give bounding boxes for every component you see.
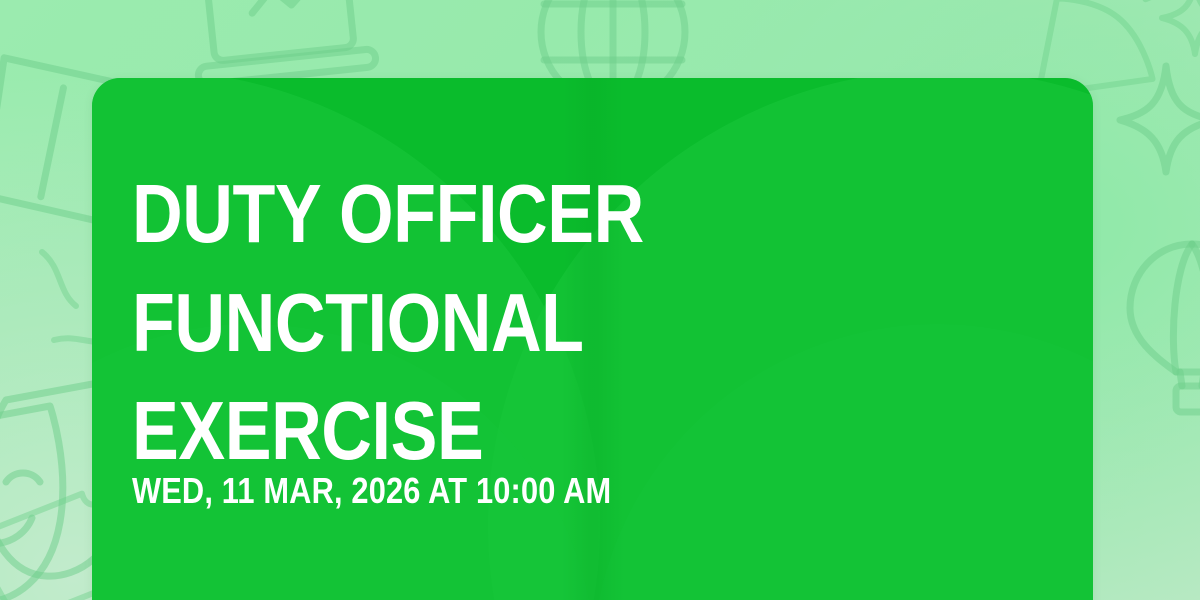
- event-card[interactable]: Duty Officer Functional Exercise Wed, 11…: [92, 78, 1093, 600]
- event-card-content: Duty Officer Functional Exercise Wed, 11…: [132, 78, 992, 600]
- event-datetime: Wed, 11 Mar, 2026 at 10:00 AM: [132, 470, 611, 512]
- event-title: Duty Officer Functional Exercise: [132, 160, 800, 486]
- event-banner-canvas: Duty Officer Functional Exercise Wed, 11…: [0, 0, 1200, 600]
